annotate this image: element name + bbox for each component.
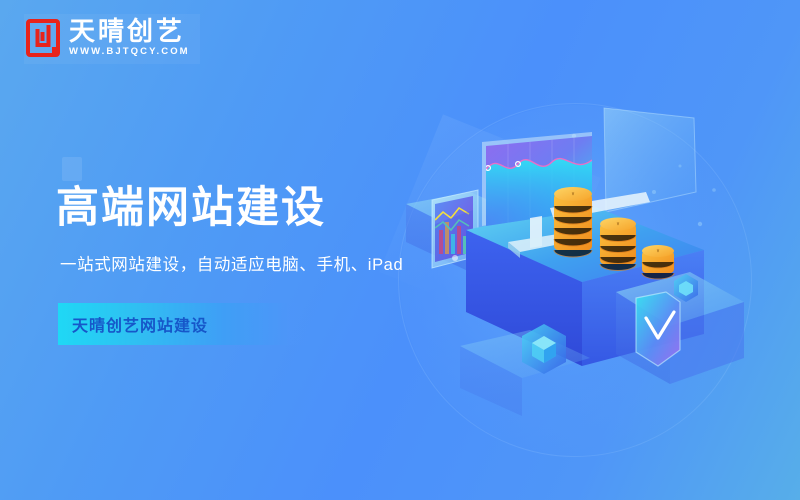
cta-button[interactable]: 天晴创艺网站建设 bbox=[58, 303, 310, 345]
site-logo[interactable]: 天晴创艺 WWW.BJTQCY.COM bbox=[24, 14, 200, 64]
hero-banner: 天晴创艺 WWW.BJTQCY.COM 高端网站建设 一站式网站建设，自动适应电… bbox=[0, 0, 800, 500]
svg-text:￥: ￥ bbox=[616, 221, 620, 226]
svg-text:￥: ￥ bbox=[656, 248, 660, 253]
cta-button-label: 天晴创艺网站建设 bbox=[72, 312, 208, 336]
logo-text-block: 天晴创艺 WWW.BJTQCY.COM bbox=[69, 18, 190, 60]
floating-panel-icon bbox=[604, 108, 696, 212]
svg-text:￥: ￥ bbox=[571, 191, 575, 196]
shield-check-icon bbox=[636, 292, 680, 366]
tianqing-square-logo-icon bbox=[26, 19, 60, 59]
logo-url: WWW.BJTQCY.COM bbox=[69, 45, 190, 59]
decorative-square bbox=[62, 157, 82, 181]
logo-name: 天晴创艺 bbox=[69, 18, 190, 45]
isometric-workspace-illustration: ￥ ￥ bbox=[404, 96, 774, 466]
